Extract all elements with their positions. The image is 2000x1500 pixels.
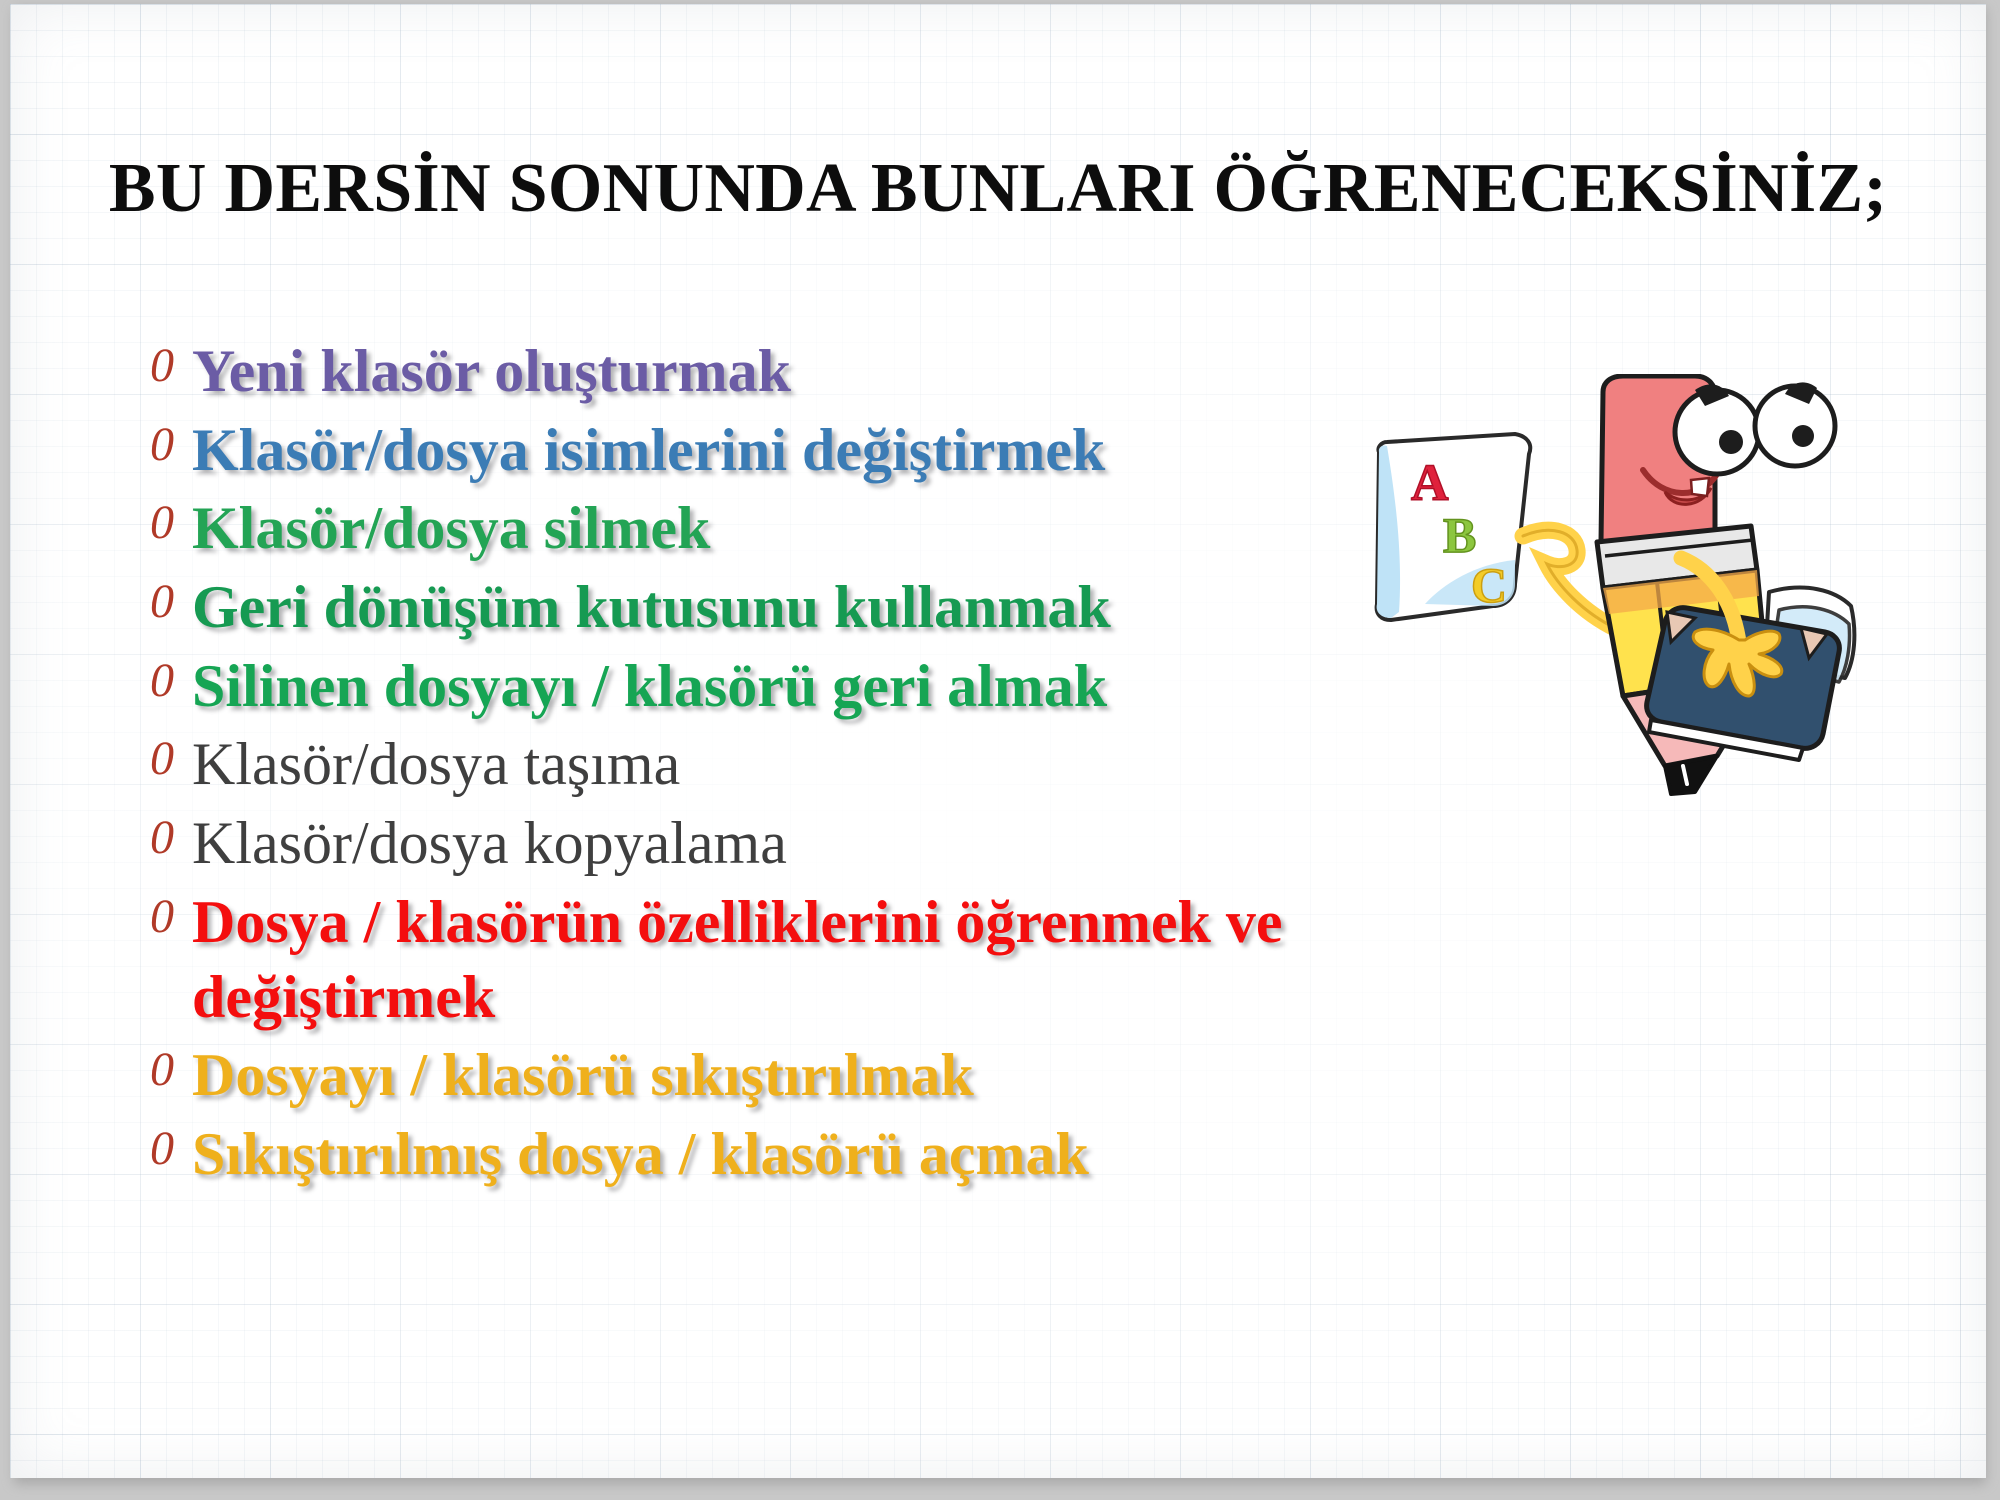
list-item: 0Yeni klasör oluşturmak — [150, 334, 1550, 409]
list-item: 0Klasör/dosya silmek — [150, 491, 1550, 566]
list-item: 0Silinen dosyayı / klasörü geri almak — [150, 649, 1550, 724]
bullet-marker-icon: 0 — [150, 649, 192, 706]
bullet-marker-icon: 0 — [150, 413, 192, 470]
list-item: 0Klasör/dosya kopyalama — [150, 806, 1550, 881]
bullet-marker-icon: 0 — [150, 727, 192, 784]
letter-a: A — [1411, 455, 1449, 512]
list-item: 0Klasör/dosya isimlerini değiştirmek — [150, 413, 1550, 488]
list-item-label: Klasör/dosya taşıma — [192, 727, 1550, 802]
list-item-label: Klasör/dosya silmek — [192, 491, 1550, 566]
pencil-character-illustration: A B C — [1365, 374, 1885, 804]
list-item-label: Silinen dosyayı / klasörü geri almak — [192, 649, 1550, 724]
list-item-label: Yeni klasör oluşturmak — [192, 334, 1550, 409]
list-item-label: Dosyayı / klasörü sıkıştırılmak — [192, 1038, 1550, 1113]
letter-b: B — [1443, 507, 1476, 563]
list-item-label: Sıkıştırılmış dosya / klasörü açmak — [192, 1117, 1550, 1192]
objectives-list: 0Yeni klasör oluşturmak0Klasör/dosya isi… — [150, 334, 1550, 1196]
list-item: 0Dosyayı / klasörü sıkıştırılmak — [150, 1038, 1550, 1113]
letter-c: C — [1471, 557, 1507, 613]
list-item-label: Geri dönüşüm kutusunu kullanmak — [192, 570, 1550, 645]
bullet-marker-icon: 0 — [150, 885, 192, 942]
list-item: 0Dosya / klasörün özelliklerini öğrenmek… — [150, 885, 1550, 1034]
bullet-marker-icon: 0 — [150, 806, 192, 863]
bullet-marker-icon: 0 — [150, 491, 192, 548]
slide-frame: BU DERSİN SONUNDA BUNLARI ÖĞRENECEKSİNİZ… — [0, 0, 2000, 1500]
list-item-label: Dosya / klasörün özelliklerini öğrenmek … — [192, 885, 1550, 1034]
presentation-slide: BU DERSİN SONUNDA BUNLARI ÖĞRENECEKSİNİZ… — [10, 4, 1986, 1478]
abc-paper-icon: A B C — [1377, 434, 1531, 620]
bullet-marker-icon: 0 — [150, 1117, 192, 1174]
bullet-marker-icon: 0 — [150, 570, 192, 627]
eye-left — [1675, 390, 1759, 474]
list-item: 0Sıkıştırılmış dosya / klasörü açmak — [150, 1117, 1550, 1192]
list-item-label: Klasör/dosya kopyalama — [192, 806, 1550, 881]
bullet-marker-icon: 0 — [150, 1038, 192, 1095]
bullet-marker-icon: 0 — [150, 334, 192, 391]
list-item: 0Klasör/dosya taşıma — [150, 727, 1550, 802]
list-item-label: Klasör/dosya isimlerini değiştirmek — [192, 413, 1550, 488]
list-item: 0Geri dönüşüm kutusunu kullanmak — [150, 570, 1550, 645]
page-title: BU DERSİN SONUNDA BUNLARI ÖĞRENECEKSİNİZ… — [10, 154, 1986, 224]
